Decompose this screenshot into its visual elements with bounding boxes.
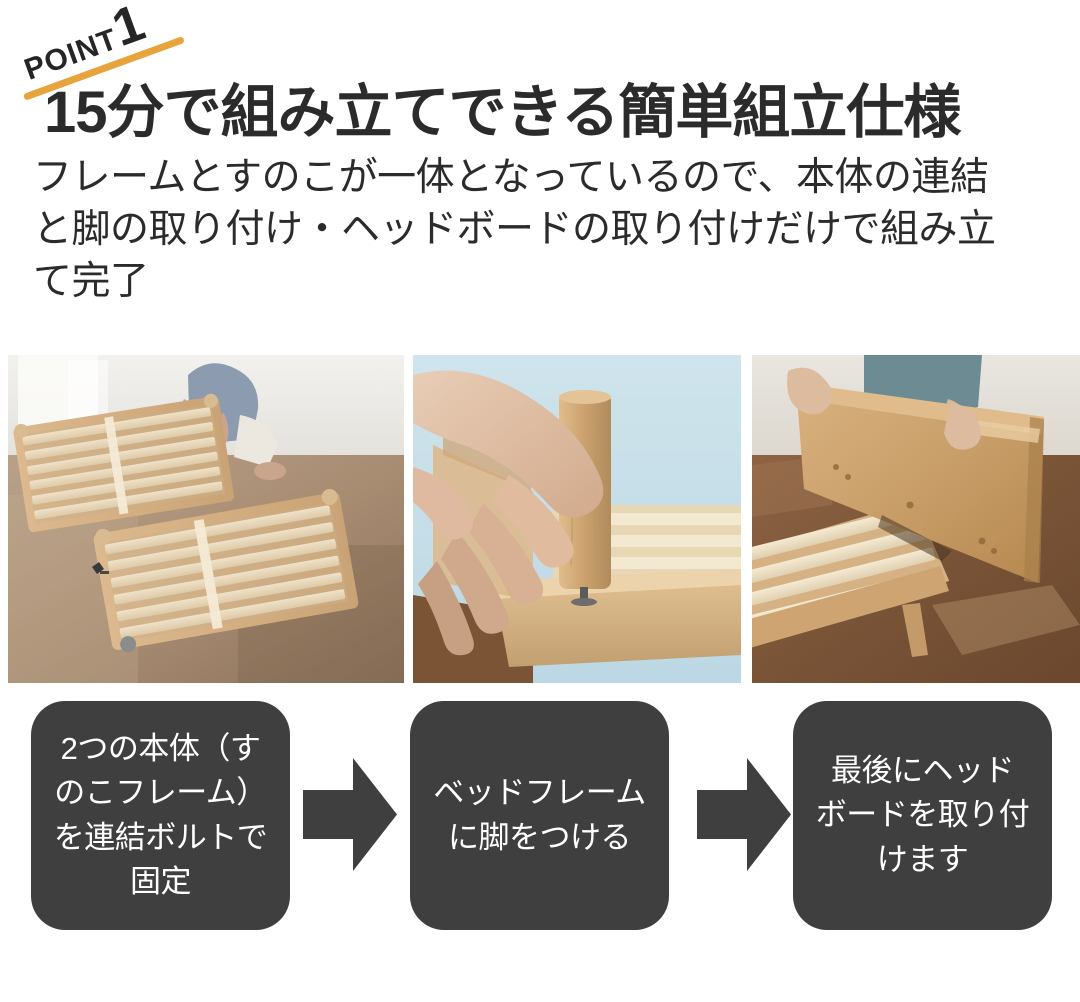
step-connect-frames-text: 2つの本体（す のこフレーム） を連結ボルトで 固定 [54, 727, 268, 903]
arrow-step2-to-step3 [697, 758, 791, 871]
page-title: 15分で組み立てできる簡単組立仕様 [44, 84, 960, 142]
step-attach-headboard: 最後にヘッド ボードを取り付 けます [793, 701, 1052, 930]
body-line: て完了 [33, 256, 1068, 308]
step-connect-frames: 2つの本体（す のこフレーム） を連結ボルトで 固定 [31, 701, 290, 930]
photo-slatted-frame-halves [8, 355, 404, 683]
photo-attaching-leg [413, 355, 741, 683]
step-line: 最後にヘッド [816, 749, 1030, 793]
step-attach-legs-text: ベッドフレーム に脚をつける [433, 771, 646, 859]
step-line: のこフレーム） [54, 771, 268, 815]
step-line: けます [816, 838, 1030, 882]
step-line: に脚をつける [433, 816, 646, 860]
body-line: フレームとすのこが一体となっているので、本体の連結 [33, 152, 1068, 204]
step-attach-headboard-text: 最後にヘッド ボードを取り付 けます [816, 749, 1030, 881]
photo-strip [0, 355, 1080, 683]
arrow-step1-to-step2 [303, 758, 397, 871]
step-line: ベッドフレーム [433, 771, 646, 815]
step-line: 2つの本体（す [54, 727, 268, 771]
step-line: を連結ボルトで [54, 816, 268, 860]
body-line: と脚の取り付け・ヘッドボードの取り付けだけで組み立 [33, 204, 1068, 256]
step-line: 固定 [54, 860, 268, 904]
step-line: ボードを取り付 [816, 793, 1030, 837]
assembly-step-flow: 2つの本体（す のこフレーム） を連結ボルトで 固定 ベッドフレーム に脚をつけ… [0, 701, 1080, 930]
photo-attaching-headboard [752, 355, 1080, 683]
body-description: フレームとすのこが一体となっているので、本体の連結 と脚の取り付け・ヘッドボード… [33, 152, 1068, 308]
step-attach-legs: ベッドフレーム に脚をつける [410, 701, 669, 930]
